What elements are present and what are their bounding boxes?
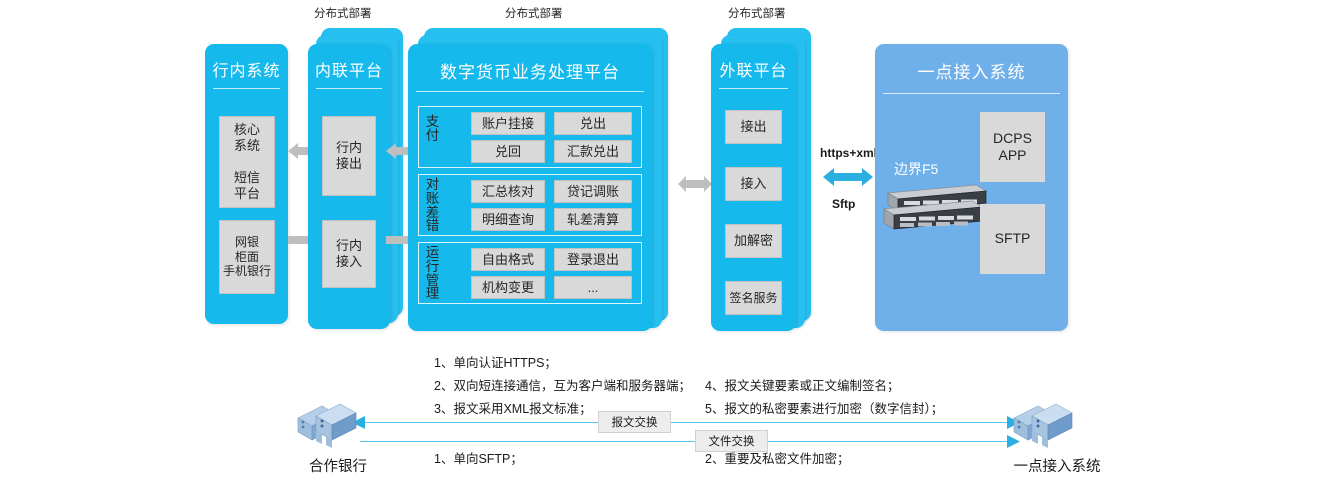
- chip-org-change[interactable]: 机构变更: [471, 276, 545, 299]
- deploy-caption-intranet: 分布式部署: [314, 5, 372, 21]
- chip-netting-settle[interactable]: 轧差清算: [554, 208, 632, 231]
- chip-remittance-out[interactable]: 汇款兑出: [554, 140, 632, 163]
- group-label-reconciliation: 对账差错: [424, 178, 441, 233]
- chip-redeem-out[interactable]: 兑出: [554, 112, 632, 135]
- network-switch-icon: [882, 181, 992, 233]
- card-title-dcep-business-platform: 数字货币业务处理平台: [408, 44, 652, 83]
- note-message-4: 4、报文关键要素或正文编制签名；: [705, 375, 899, 394]
- server-icon-partner-bank: [296, 400, 358, 450]
- diagram-canvas: 分布式部署 分布式部署 分布式部署 行内系统 核心 系统 短信 平台 网银 柜面…: [0, 0, 1333, 483]
- group-reconciliation: 对账差错 汇总核对 贷记调账 明细查询 轧差清算: [418, 174, 642, 236]
- header-divider: [213, 88, 280, 89]
- note-message-2: 2、双向短连接通信，互为客户端和服务器端；: [434, 375, 691, 394]
- chip-summary-check[interactable]: 汇总核对: [471, 180, 545, 203]
- chip-ebank-counter-mobile[interactable]: 网银 柜面 手机银行: [219, 220, 275, 294]
- card-title-bank-internal-system: 行内系统: [205, 44, 288, 81]
- group-operation-management: 运行管理 自由格式 登录退出 机构变更 ...: [418, 242, 642, 304]
- group-label-payment: 支付: [424, 115, 441, 143]
- card-single-point-access-system: 一点接入系统 边界F5: [875, 44, 1068, 331]
- label-message-exchange: 报文交换: [598, 411, 671, 433]
- note-message-3: 3、报文采用XML报文标准；: [434, 398, 592, 417]
- card-external-platform: 外联平台 接出 接入 加解密 签名服务: [711, 44, 796, 331]
- chip-redeem-back[interactable]: 兑回: [471, 140, 545, 163]
- header-divider: [316, 88, 382, 89]
- protocol-label-https-xml: https+xml: [820, 146, 877, 160]
- chip-free-format[interactable]: 自由格式: [471, 248, 545, 271]
- deploy-caption-external: 分布式部署: [728, 5, 786, 21]
- note-file-1: 1、单向SFTP；: [434, 448, 523, 467]
- chip-dcps-app[interactable]: DCPS APP: [980, 112, 1045, 182]
- header-divider: [719, 88, 788, 89]
- header-divider: [883, 93, 1060, 94]
- arrow-bidirectional-external-access: [823, 167, 873, 187]
- note-message-5: 5、报文的私密要素进行加密（数字信封）；: [705, 398, 943, 417]
- deploy-caption-dcep: 分布式部署: [505, 5, 563, 21]
- card-bank-internal-system: 行内系统 核心 系统 短信 平台 网银 柜面 手机银行: [205, 44, 288, 324]
- note-file-2: 2、重要及私密文件加密；: [705, 448, 849, 467]
- note-message-1: 1、单向认证HTTPS；: [434, 352, 557, 371]
- group-payment: 支付 账户挂接 兑出 兑回 汇款兑出: [418, 106, 642, 168]
- chip-intranet-outbound[interactable]: 行内 接出: [322, 116, 376, 196]
- chip-login-logout[interactable]: 登录退出: [554, 248, 632, 271]
- line-message-exchange: [360, 422, 1020, 423]
- chip-sftp[interactable]: SFTP: [980, 204, 1045, 274]
- protocol-label-sftp: Sftp: [832, 197, 855, 211]
- header-divider: [416, 91, 644, 92]
- server-icon-single-point-access: [1012, 400, 1074, 450]
- chip-detail-query[interactable]: 明细查询: [471, 208, 545, 231]
- endpoint-label-single-point-access: 一点接入系统: [997, 455, 1117, 476]
- line-file-exchange: [360, 441, 1010, 442]
- chip-intranet-inbound[interactable]: 行内 接入: [322, 220, 376, 288]
- chip-account-link[interactable]: 账户挂接: [471, 112, 545, 135]
- chip-credit-adjust[interactable]: 贷记调账: [554, 180, 632, 203]
- card-title-intranet-platform: 内联平台: [308, 44, 390, 81]
- card-dcep-business-platform: 数字货币业务处理平台 支付 账户挂接 兑出 兑回 汇款兑出 对账差错 汇总核对 …: [408, 44, 652, 331]
- card-title-external-platform: 外联平台: [711, 44, 796, 81]
- chip-external-outbound[interactable]: 接出: [725, 110, 782, 144]
- chip-more[interactable]: ...: [554, 276, 632, 299]
- arrow-bidirectional-dcep-external: [678, 176, 712, 192]
- chip-encrypt-decrypt[interactable]: 加解密: [725, 224, 782, 258]
- group-label-operation-management: 运行管理: [424, 246, 441, 301]
- label-boundary-f5: 边界F5: [894, 159, 938, 179]
- endpoint-label-partner-bank: 合作银行: [293, 455, 383, 476]
- chip-signature-service[interactable]: 签名服务: [725, 281, 782, 315]
- chip-external-inbound[interactable]: 接入: [725, 167, 782, 201]
- chip-core-sms[interactable]: 核心 系统 短信 平台: [219, 116, 275, 208]
- card-title-single-point-access-system: 一点接入系统: [875, 44, 1068, 83]
- card-intranet-platform: 内联平台 行内 接出 行内 接入: [308, 44, 390, 329]
